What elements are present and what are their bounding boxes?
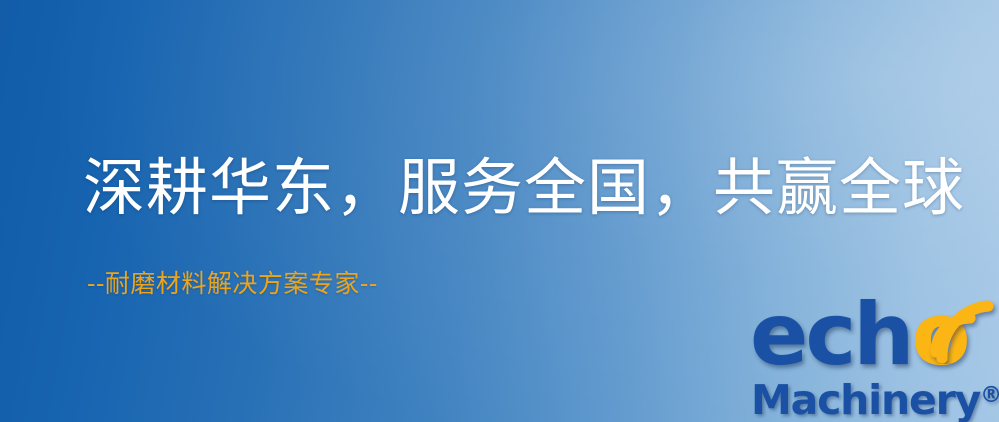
hero-banner: 深耕华东，服务全国，共赢全球 --耐磨材料解决方案专家-- echo Machi… [0, 0, 999, 422]
logo-tagline: Machinery® [751, 374, 999, 422]
signal-waves-icon [928, 290, 999, 364]
company-logo[interactable]: echo Machinery® [748, 292, 999, 422]
logo-tagline-text: Machinery [751, 376, 980, 422]
registered-trademark-icon: ® [980, 383, 999, 408]
headline-slogan: 深耕华东，服务全国，共赢全球 [83, 152, 965, 224]
subtitle-tagline: --耐磨材料解决方案专家-- [87, 268, 378, 300]
logo-wordmark-prefix: ech [750, 285, 912, 385]
